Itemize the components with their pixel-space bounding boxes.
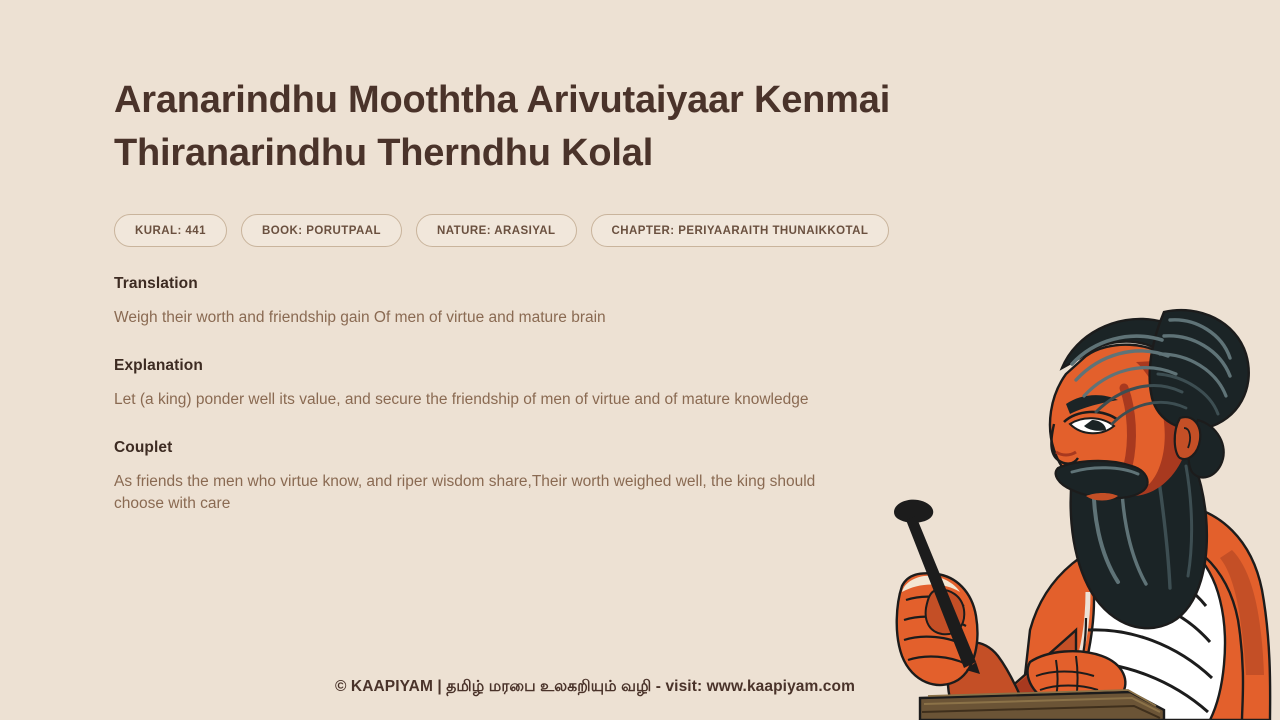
sage-face <box>1050 345 1188 495</box>
sage-left-arm <box>970 630 1076 720</box>
section-body-couplet: As friends the men who virtue know, and … <box>114 471 854 515</box>
badge-chapter[interactable]: CHAPTER: PERIYAARAITH THUNAIKKOTAL <box>591 214 890 247</box>
section-explanation: Explanation Let (a king) ponder well its… <box>114 357 904 411</box>
section-heading-translation: Translation <box>114 275 904 293</box>
sage-right-arm <box>1180 505 1270 720</box>
page-title: Aranarindhu Mooththa Arivutaiyaar Kenmai… <box>114 74 894 180</box>
section-translation: Translation Weigh their worth and friend… <box>114 275 904 329</box>
sage-ear <box>1175 417 1201 459</box>
badge-nature[interactable]: NATURE: ARASIYAL <box>416 214 577 247</box>
metadata-badge-row: KURAL: 441 BOOK: PORUTPAAL NATURE: ARASI… <box>114 214 904 247</box>
section-heading-explanation: Explanation <box>114 357 904 375</box>
sage-hair <box>1062 310 1249 477</box>
sage-beard <box>1071 430 1207 628</box>
badge-kural-number[interactable]: KURAL: 441 <box>114 214 227 247</box>
section-couplet: Couplet As friends the men who virtue kn… <box>114 439 904 515</box>
stylus <box>894 500 980 674</box>
section-heading-couplet: Couplet <box>114 439 904 457</box>
section-body-translation: Weigh their worth and friendship gain Of… <box>114 307 854 329</box>
section-body-explanation: Let (a king) ponder well its value, and … <box>114 389 854 411</box>
thiruvalluvar-sage-writing-illustration <box>880 300 1280 720</box>
footer-credit: © KAAPIYAM | தமிழ் மரபை உலகறியும் வழி - … <box>0 678 1190 697</box>
kural-card: Aranarindhu Mooththa Arivutaiyaar Kenmai… <box>0 0 1280 720</box>
kural-content: Aranarindhu Mooththa Arivutaiyaar Kenmai… <box>114 74 904 515</box>
sage-writing-hand <box>897 573 978 685</box>
badge-book[interactable]: BOOK: PORUTPAAL <box>241 214 402 247</box>
